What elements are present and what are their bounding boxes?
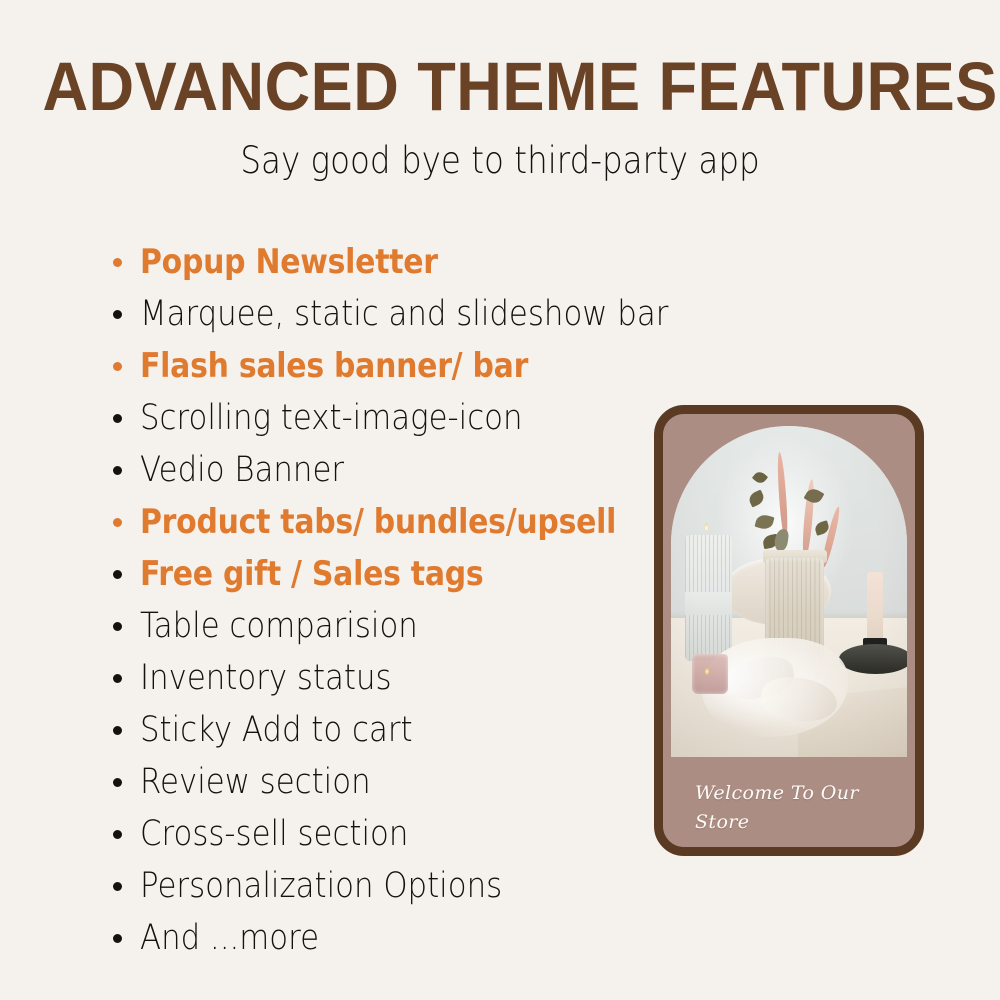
feature-label: And ...more (140, 921, 319, 956)
list-item: Vedio Banner (107, 444, 677, 496)
list-item: Review section (107, 756, 677, 808)
list-item: Inventory status (107, 652, 677, 704)
list-item: Flash sales banner/ bar (107, 340, 677, 392)
feature-label: Popup Newsletter (140, 245, 438, 279)
list-item: Cross-sell section (107, 808, 677, 860)
bullet-dot-icon (113, 830, 122, 839)
feature-label: Review section (140, 765, 371, 800)
feature-label: Product tabs/ bundles/upsell (140, 505, 616, 539)
store-hero-photo (671, 426, 907, 757)
feature-label: Vedio Banner (140, 453, 344, 488)
store-card-mockup: Welcome To Our Store (654, 405, 924, 856)
list-item: Popup Newsletter (107, 236, 677, 288)
list-item: Personalization Options (107, 860, 677, 912)
bullet-dot-icon (113, 934, 122, 943)
list-item: Sticky Add to cart (107, 704, 677, 756)
feature-label: Scrolling text-image-icon (140, 401, 523, 436)
caption-line-1: Welcome To Our (695, 779, 875, 808)
poster-canvas: ADVANCED THEME FEATURES Say good bye to … (0, 0, 1000, 1000)
photo-scene (671, 426, 907, 757)
bullet-dot-icon (113, 362, 122, 371)
taper-candle (867, 572, 884, 645)
feature-label: Inventory status (140, 661, 392, 696)
bullet-dot-icon (113, 674, 122, 683)
list-item: Free gift / Sales tags (107, 548, 677, 600)
list-item: Scrolling text-image-icon (107, 392, 677, 444)
store-card-caption-band: Welcome To Our Store (663, 757, 915, 847)
caption-line-2: Store (695, 808, 875, 837)
header: ADVANCED THEME FEATURES Say good bye to … (0, 52, 1000, 179)
bullet-dot-icon (113, 310, 122, 319)
bullet-dot-icon (113, 778, 122, 787)
feature-label: Cross-sell section (140, 817, 408, 852)
bullet-dot-icon (113, 622, 122, 631)
bullet-dot-icon (113, 414, 122, 423)
feature-list: Popup Newsletter Marquee, static and sli… (107, 236, 677, 964)
store-card-caption: Welcome To Our Store (695, 779, 875, 838)
bullet-dot-icon (113, 882, 122, 891)
page-subtitle: Say good bye to third-party app (60, 142, 940, 179)
list-item: And ...more (107, 912, 677, 964)
list-item: Marquee, static and slideshow bar (107, 288, 677, 340)
feature-label: Sticky Add to cart (140, 713, 413, 748)
votive-flame-icon (705, 668, 709, 675)
feature-label: Marquee, static and slideshow bar (140, 297, 668, 332)
bullet-dot-icon (113, 466, 122, 475)
feature-label: Personalization Options (140, 869, 502, 904)
bullet-dot-icon (113, 726, 122, 735)
bullet-dot-icon (113, 258, 122, 267)
feature-label: Table comparision (140, 609, 418, 644)
pillar-candle-band (685, 592, 732, 615)
list-item: Product tabs/ bundles/upsell (107, 496, 677, 548)
card-inner: Welcome To Our Store (663, 414, 915, 847)
bullet-dot-icon (113, 570, 122, 579)
feature-label: Flash sales banner/ bar (140, 349, 528, 383)
list-item: Table comparision (107, 600, 677, 652)
page-title: ADVANCED THEME FEATURES (43, 52, 958, 121)
feature-label: Free gift / Sales tags (140, 557, 483, 591)
bullet-dot-icon (113, 518, 122, 527)
rose-glass-votive (692, 654, 727, 694)
